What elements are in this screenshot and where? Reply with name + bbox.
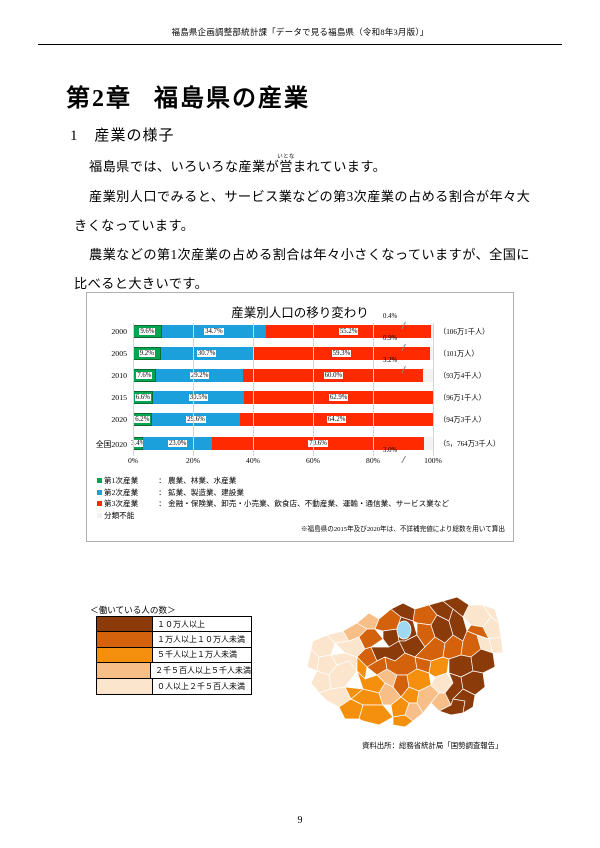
map-legend-title: ＜働いている人の数＞ [90, 604, 176, 616]
ruby-itonamu: 営いとな [279, 159, 293, 174]
legend-item-colon: ： [156, 487, 168, 499]
section-title-text: 産業の様子 [95, 128, 175, 144]
map-legend-row: １万人以上１０万人未満 [97, 632, 251, 647]
map-legend-row: ２千５百人以上５千人未満 [97, 663, 251, 678]
chart-row-label: 2020 [87, 415, 127, 424]
chart-value-label: 64.2% [327, 416, 347, 423]
chart-segment-第1次産業: 6.2% [133, 413, 152, 426]
chart-bar-row: 全国20203.4%23.0%70.6%（5，764万3千人） [87, 435, 515, 454]
chart-bar-row: 20059.2%30.7%59.3%（101万人） [87, 345, 515, 364]
chart-segment-第2次産業: 23.0% [143, 437, 212, 450]
chart-value-label: 70.6% [308, 440, 328, 447]
chart-title: 産業別人口の移り変わり [87, 302, 513, 321]
chart-note: ※福島県の2015年及び2020年は、不詳補完値により総数を用いて算出 [301, 523, 505, 533]
map-legend-row: ０人以上２千５百人未満 [97, 679, 251, 694]
chart-segment-第3次産業: 62.9% [244, 391, 433, 404]
chart-x-tick: 100% [424, 456, 442, 465]
chart-callout-label: 3.2% [383, 357, 397, 364]
chapter-number: 第2章 [66, 86, 132, 112]
chart-x-tick: 80% [366, 456, 380, 465]
chart-row-label: 全国2020 [87, 439, 127, 450]
chart-x-tick: 0% [128, 456, 138, 465]
map-legend-swatch [97, 648, 153, 662]
chart-bar-row: 20156.6%30.5%62.9%（96万1千人） [87, 389, 515, 408]
chart-segment-分類不能 [423, 369, 433, 382]
chart-bar-row: 20107.6%29.2%60.0%（93万4千人） [87, 367, 515, 386]
chart-value-label: 29.6% [186, 416, 206, 423]
chart-gridline [133, 323, 134, 456]
chart-value-label: 30.7% [197, 350, 217, 357]
chart-legend: 第1次産業：農業、林業、水産業第2次産業：鉱業、製造業、建設業第3次産業：金融・… [97, 475, 507, 521]
chart-x-tick: 60% [306, 456, 320, 465]
page-number: 9 [0, 815, 600, 826]
paragraph-3-text: 農業などの第1次産業の占める割合は年々小さくなっていますが、全国に比べると大きい… [74, 247, 530, 291]
chart-legend-item: 第1次産業：農業、林業、水産業 [97, 475, 507, 487]
chart-value-label: 9.2% [139, 350, 155, 357]
paragraph-1-part-b: まれています。 [293, 159, 386, 174]
chart-row-label: 2000 [87, 327, 127, 336]
chart-segment-第1次産業: 7.6% [133, 369, 156, 382]
industry-population-chart: 産業別人口の移り変わり 20009.6%34.7%55.2%（106万1千人）2… [86, 292, 514, 542]
chart-segment-第2次産業: 29.6% [152, 413, 241, 426]
chart-value-label: 6.6% [135, 394, 151, 401]
chart-row-label: 2005 [87, 349, 127, 358]
legend-swatch-icon [97, 490, 102, 495]
chart-row-total: （93万4千人） [439, 371, 486, 381]
chart-stacked-bar: 6.2%29.6%64.2% [133, 413, 433, 426]
legend-item-name: 第1次産業 [104, 475, 156, 487]
chart-segment-第3次産業: 59.3% [253, 347, 431, 360]
chart-value-label: 9.6% [139, 328, 155, 335]
chart-value-label: 6.2% [134, 416, 150, 423]
chart-legend-item: 分類不能 [97, 510, 507, 522]
map-legend-label: ２千５百人以上５千人未満 [151, 663, 251, 677]
chart-bar-row: 20009.6%34.7%55.2%（106万1千人） [87, 323, 515, 342]
chart-gridline [253, 323, 254, 456]
paragraph-1-part-a: 福島県では、いろいろな産業が [89, 159, 279, 174]
map-legend-row: ５千人以上１万人未満 [97, 648, 251, 663]
legend-swatch-icon [97, 501, 102, 506]
chart-gridline [313, 323, 314, 456]
chart-row-total: （101万人） [439, 349, 479, 359]
paragraph-3: 農業などの第1次産業の占める割合は年々小さくなっていますが、全国に比べると大きい… [74, 240, 534, 298]
map-legend-label: ０人以上２千５百人未満 [153, 679, 251, 694]
chart-gridline [193, 323, 194, 456]
paragraph-2: 産業別人口でみると、サービス業などの第3次産業の占める割合が年々大きくなっていま… [74, 182, 534, 240]
map-source-note: 資料出所：総務省統計局「国勢調査報告」 [362, 740, 502, 751]
chart-segment-第2次産業: 30.5% [153, 391, 245, 404]
paragraph-1: 福島県では、いろいろな産業が営いとなまれています。 [74, 152, 534, 181]
chart-callout-label: 0.9% [383, 335, 397, 342]
paragraph-2-text: 産業別人口でみると、サービス業などの第3次産業の占める割合が年々大きくなっていま… [74, 189, 530, 233]
legend-item-colon: ： [156, 475, 168, 487]
map-legend-label: １０万人以上 [153, 617, 251, 631]
legend-item-name: 第2次産業 [104, 487, 156, 499]
map-legend-swatch [97, 617, 153, 631]
chart-stacked-bar: 6.6%30.5%62.9% [133, 391, 433, 404]
chart-segment-第1次産業: 6.6% [133, 391, 153, 404]
chart-stacked-bar: 7.6%29.2%60.0% [133, 369, 433, 382]
map-legend-row: １０万人以上 [97, 617, 251, 632]
chart-callout-label: 3.0% [383, 447, 397, 454]
chart-segment-第1次産業: 9.6% [133, 325, 162, 338]
map-svg [305, 595, 515, 730]
chart-gridline [433, 323, 434, 456]
chart-segment-第1次産業: 9.2% [133, 347, 161, 360]
chart-gridline [373, 323, 374, 456]
chart-row-label: 2010 [87, 371, 127, 380]
chart-segment-第1次産業: 3.4% [133, 437, 143, 450]
chart-segment-第3次産業: 55.2% [266, 325, 432, 338]
chart-segment-第2次産業: 29.2% [156, 369, 244, 382]
chart-segment-第3次産業: 64.2% [240, 413, 433, 426]
page-title: 第2章福島県の産業 [66, 78, 310, 113]
legend-swatch-icon [97, 478, 102, 483]
map-legend-swatch [97, 679, 153, 694]
chart-value-label: 62.9% [329, 394, 349, 401]
chart-value-label: 34.7% [204, 328, 224, 335]
chart-segment-分類不能 [424, 437, 433, 450]
chart-row-label: 2015 [87, 393, 127, 402]
section-heading: 1産業の様子 [70, 124, 175, 145]
legend-item-name: 第3次産業 [104, 498, 156, 510]
chart-plot-area: 20009.6%34.7%55.2%（106万1千人）20059.2%30.7%… [87, 323, 515, 458]
chart-value-label: 59.3% [332, 350, 352, 357]
chart-row-total: （94万3千人） [439, 415, 486, 425]
chart-row-total: （96万1千人） [439, 393, 486, 403]
chart-callout-label: 0.4% [383, 313, 397, 320]
chart-legend-item: 第2次産業：鉱業、製造業、建設業 [97, 487, 507, 499]
chart-x-tick: 40% [246, 456, 260, 465]
chart-segment-第3次産業: 60.0% [243, 369, 423, 382]
map-legend-swatch [97, 663, 151, 677]
fukushima-choropleth-map [305, 595, 515, 730]
chart-segment-第2次産業: 34.7% [162, 325, 266, 338]
legend-item-name: 分類不能 [104, 510, 156, 522]
chart-row-total: （106万1千人） [439, 327, 489, 337]
document-header: 福島県企画調整部統計課「データで見る福島県（令和8年3月版）」 [0, 26, 600, 38]
legend-item-desc: 金融・保険業、卸売・小売業、飲食店、不動産業、運輸・通信業、サービス業など [168, 498, 449, 510]
map-legend-label: １万人以上１０万人未満 [153, 632, 251, 646]
map-legend-swatch [97, 632, 153, 646]
chart-segment-第2次産業: 30.7% [161, 347, 253, 360]
legend-item-desc: 鉱業、製造業、建設業 [168, 487, 244, 499]
chart-x-axis: 0%20%40%60%80%100% [133, 456, 433, 468]
map-legend-label: ５千人以上１万人未満 [153, 648, 251, 662]
chart-value-label: 23.0% [168, 440, 188, 447]
ruby-reading: いとな [277, 154, 295, 160]
chart-value-label: 55.2% [339, 328, 359, 335]
legend-item-colon: ： [156, 498, 168, 510]
chart-row-total: （5，764万3千人） [439, 439, 500, 449]
chart-legend-item: 第3次産業：金融・保険業、卸売・小売業、飲食店、不動産業、運輸・通信業、サービス… [97, 498, 507, 510]
chart-value-label: 60.0% [324, 372, 344, 379]
chart-bar-row: 20206.2%29.6%64.2%（94万3千人） [87, 411, 515, 430]
chapter-title-text: 福島県の産業 [154, 86, 310, 112]
header-divider [38, 44, 562, 45]
legend-swatch-icon [97, 513, 102, 518]
section-number: 1 [70, 128, 79, 144]
chart-x-tick: 20% [186, 456, 200, 465]
chart-value-label: 7.6% [136, 372, 152, 379]
legend-item-desc: 農業、林業、水産業 [168, 475, 236, 487]
map-legend: １０万人以上１万人以上１０万人未満５千人以上１万人未満２千５百人以上５千人未満０… [96, 616, 252, 695]
chart-value-label: 30.5% [189, 394, 209, 401]
